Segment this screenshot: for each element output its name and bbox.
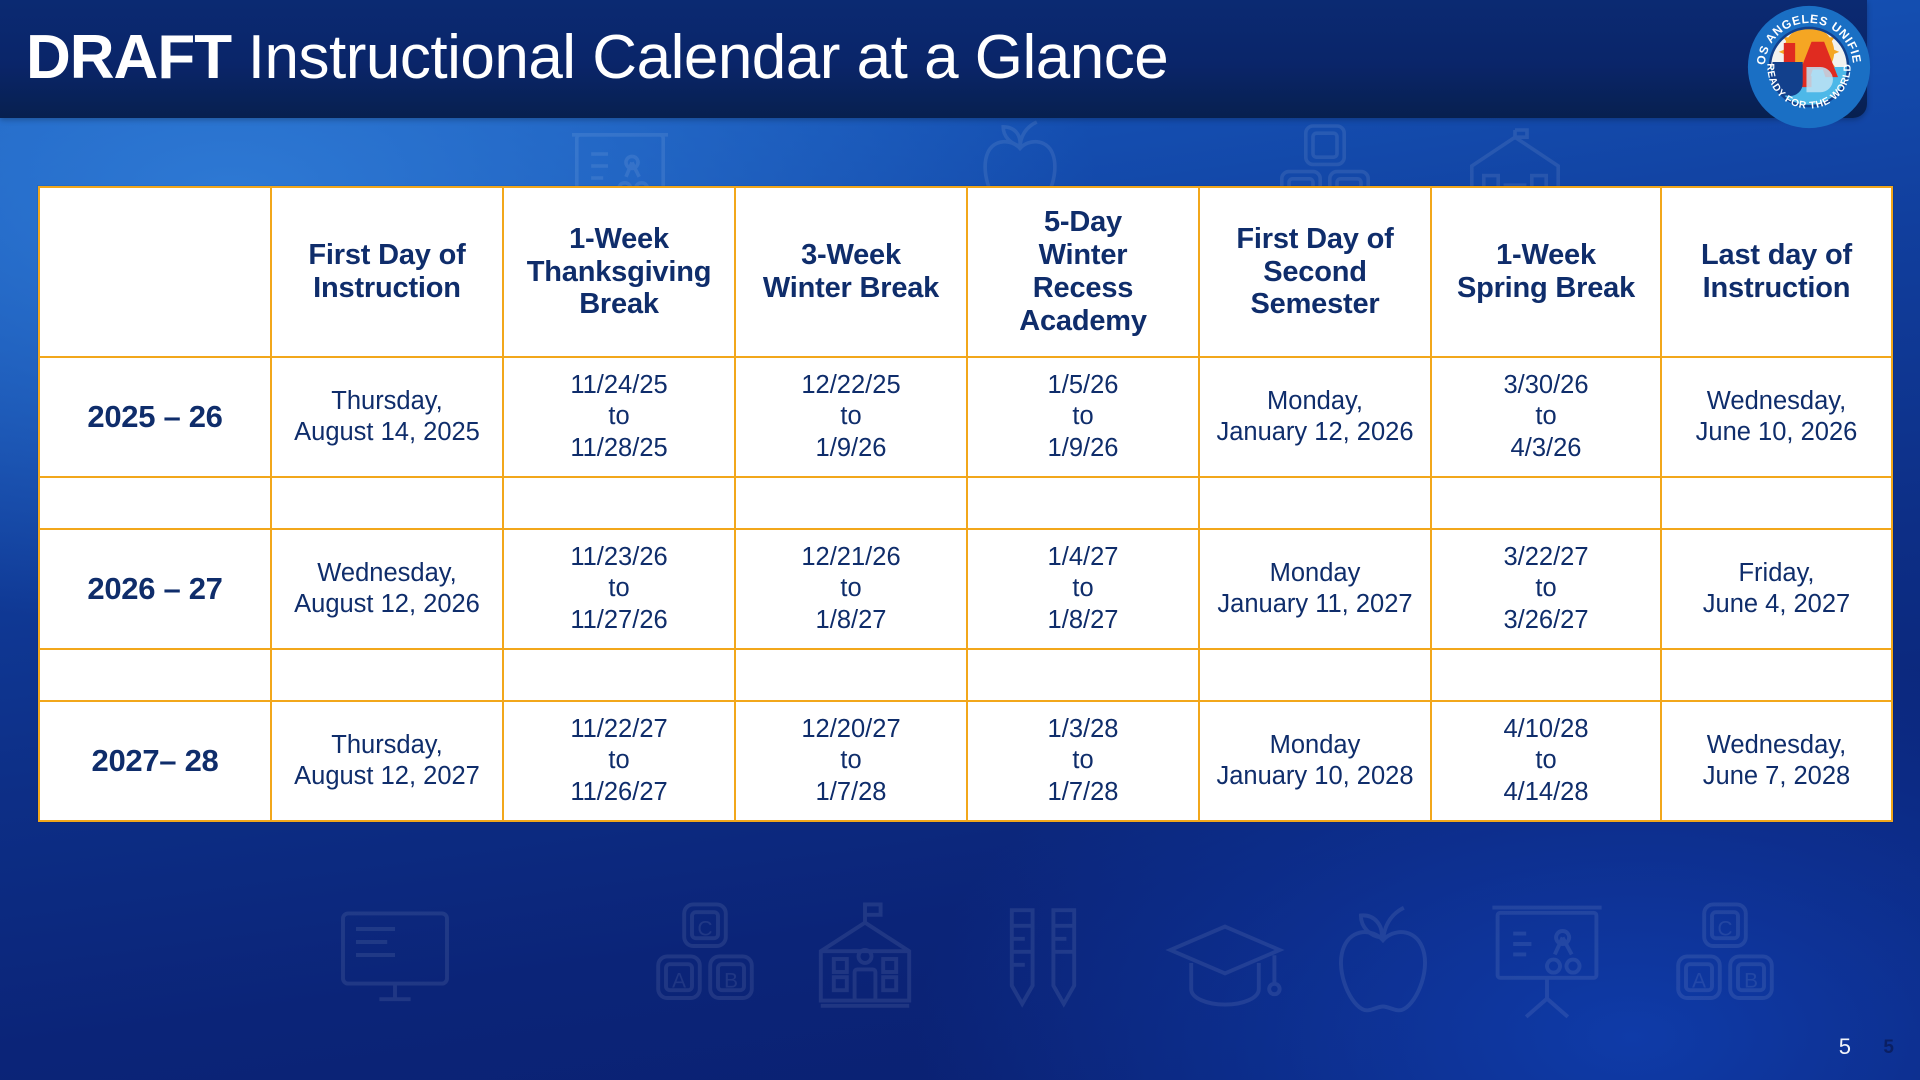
text-line: 12/22/25 — [742, 370, 960, 401]
text-line: 4/14/28 — [1438, 777, 1654, 808]
text-line: to — [510, 745, 728, 776]
cell-last-day-of-instruction: Wednesday,June 10, 2026 — [1661, 357, 1892, 477]
text-line: Monday — [1206, 558, 1424, 589]
spacer-cell — [271, 477, 503, 529]
text-line: 3-Week — [742, 239, 960, 272]
spacer-cell — [503, 477, 735, 529]
cell-thanksgiving-break: 11/24/25to11/28/25 — [503, 357, 735, 477]
text-line: to — [742, 745, 960, 776]
text-line: Thursday, — [278, 730, 496, 761]
text-line: Second — [1206, 256, 1424, 289]
table-body: 2025 – 26 Thursday,August 14, 2025 11/24… — [39, 357, 1892, 821]
text-line: 1/3/28 — [974, 714, 1192, 745]
cell-winter-break: 12/22/25to1/9/26 — [735, 357, 967, 477]
table-header-row: First Day ofInstruction 1-WeekThanksgivi… — [39, 187, 1892, 357]
header-cell-winter-recess-academy: 5-DayWinterRecessAcademy — [967, 187, 1199, 357]
spacer-cell — [967, 477, 1199, 529]
cell-last-day-of-instruction: Wednesday,June 7, 2028 — [1661, 701, 1892, 821]
text-line: to — [742, 401, 960, 432]
cell-winter-recess-academy: 1/3/28to1/7/28 — [967, 701, 1199, 821]
text-line: 4/10/28 — [1438, 714, 1654, 745]
page-title-draft: DRAFT — [26, 23, 231, 92]
text-line: 3/22/27 — [1438, 542, 1654, 573]
text-line: Spring Break — [1438, 272, 1654, 305]
page-number: 5 — [1839, 1034, 1851, 1060]
spacer-cell — [39, 649, 271, 701]
text-line: First Day of — [278, 239, 496, 272]
text-line: 11/23/26 — [510, 542, 728, 573]
spacer-cell — [735, 649, 967, 701]
text-line: 1/4/27 — [974, 542, 1192, 573]
text-line: Thursday, — [278, 386, 496, 417]
text-line: to — [974, 401, 1192, 432]
text-line: 11/22/27 — [510, 714, 728, 745]
text-line: 1/8/27 — [742, 605, 960, 636]
spacer-cell — [1431, 649, 1661, 701]
row-label-year: 2025 – 26 — [39, 357, 271, 477]
svg-text:B: B — [1744, 970, 1758, 993]
cell-spring-break: 3/22/27to3/26/27 — [1431, 529, 1661, 649]
text-line: 4/3/26 — [1438, 433, 1654, 464]
table-row: 2025 – 26 Thursday,August 14, 2025 11/24… — [39, 357, 1892, 477]
text-line: August 12, 2027 — [278, 761, 496, 792]
text-line: to — [1438, 745, 1654, 776]
text-line: 1/8/27 — [974, 605, 1192, 636]
text-line: January 11, 2027 — [1206, 589, 1424, 620]
text-line: Wednesday, — [1668, 730, 1885, 761]
text-line: 12/20/27 — [742, 714, 960, 745]
cell-thanksgiving-break: 11/23/26to11/27/26 — [503, 529, 735, 649]
cell-first-day-of-instruction: Wednesday,August 12, 2026 — [271, 529, 503, 649]
text-line: 1/9/26 — [742, 433, 960, 464]
text-line: August 12, 2026 — [278, 589, 496, 620]
spacer-cell — [503, 649, 735, 701]
presentation-board-icon — [1482, 892, 1612, 1022]
svg-text:A: A — [672, 970, 686, 993]
abc-blocks-icon: C A B — [640, 894, 770, 1024]
text-line: Monday — [1206, 730, 1424, 761]
table-spacer-row — [39, 649, 1892, 701]
table-spacer-row — [39, 477, 1892, 529]
abc-blocks-icon: C A B — [1660, 894, 1790, 1024]
row-label-year: 2026 – 27 — [39, 529, 271, 649]
text-line: 1/9/26 — [974, 433, 1192, 464]
spacer-cell — [271, 649, 503, 701]
text-line: 11/24/25 — [510, 370, 728, 401]
spacer-cell — [735, 477, 967, 529]
slide-canvas: DRAFT Instructional Calendar at a Glance — [0, 0, 1920, 1080]
cell-first-day-of-instruction: Thursday,August 12, 2027 — [271, 701, 503, 821]
text-line: Break — [510, 288, 728, 321]
text-line: Last day of — [1668, 239, 1885, 272]
text-line: 1/7/28 — [974, 777, 1192, 808]
school-building-icon — [800, 894, 930, 1024]
text-line: June 7, 2028 — [1668, 761, 1885, 792]
svg-text:B: B — [724, 970, 738, 993]
svg-text:C: C — [697, 918, 712, 941]
text-line: 1/7/28 — [742, 777, 960, 808]
text-line: January 10, 2028 — [1206, 761, 1424, 792]
cell-first-day-second-semester: Monday,January 12, 2026 — [1199, 357, 1431, 477]
cell-winter-break: 12/20/27to1/7/28 — [735, 701, 967, 821]
header-cell-blank — [39, 187, 271, 357]
page-number-ghost: 5 — [1883, 1037, 1894, 1059]
text-line: June 10, 2026 — [1668, 417, 1885, 448]
table-row: 2027– 28 Thursday,August 12, 2027 11/22/… — [39, 701, 1892, 821]
text-line: Winter — [974, 239, 1192, 272]
text-line: 3/26/27 — [1438, 605, 1654, 636]
text-line: 11/27/26 — [510, 605, 728, 636]
text-line: 1/5/26 — [974, 370, 1192, 401]
svg-text:C: C — [1717, 918, 1732, 941]
text-line: Wednesday, — [278, 558, 496, 589]
cell-winter-break: 12/21/26to1/8/27 — [735, 529, 967, 649]
page-title: DRAFT Instructional Calendar at a Glance — [26, 22, 1168, 93]
text-line: Academy — [974, 305, 1192, 338]
spacer-cell — [1661, 649, 1892, 701]
svg-text:A: A — [1692, 970, 1706, 993]
header-cell-last-day-of-instruction: Last day ofInstruction — [1661, 187, 1892, 357]
text-line: to — [1438, 573, 1654, 604]
text-line: to — [974, 745, 1192, 776]
text-line: First Day of — [1206, 223, 1424, 256]
spacer-cell — [1199, 649, 1431, 701]
cell-first-day-second-semester: MondayJanuary 10, 2028 — [1199, 701, 1431, 821]
spacer-cell — [1431, 477, 1661, 529]
cell-thanksgiving-break: 11/22/27to11/26/27 — [503, 701, 735, 821]
monitor-icon — [330, 890, 460, 1020]
text-line: Winter Break — [742, 272, 960, 305]
cell-spring-break: 3/30/26to4/3/26 — [1431, 357, 1661, 477]
text-line: 11/26/27 — [510, 777, 728, 808]
text-line: 1-Week — [1438, 239, 1654, 272]
header-cell-thanksgiving-break: 1-WeekThanksgivingBreak — [503, 187, 735, 357]
text-line: Recess — [974, 272, 1192, 305]
header-cell-spring-break: 1-WeekSpring Break — [1431, 187, 1661, 357]
pencil-ruler-icon — [978, 892, 1108, 1022]
text-line: Semester — [1206, 288, 1424, 321]
cell-first-day-of-instruction: Thursday,August 14, 2025 — [271, 357, 503, 477]
text-line: Instruction — [1668, 272, 1885, 305]
spacer-cell — [1661, 477, 1892, 529]
watermark-band-bottom: C A B — [0, 880, 1920, 1060]
table-row: 2026 – 27 Wednesday,August 12, 2026 11/2… — [39, 529, 1892, 649]
spacer-cell — [967, 649, 1199, 701]
instructional-calendar-table: First Day ofInstruction 1-WeekThanksgivi… — [38, 186, 1893, 822]
header-cell-winter-break: 3-WeekWinter Break — [735, 187, 967, 357]
header-cell-first-day-of-instruction: First Day ofInstruction — [271, 187, 503, 357]
spacer-cell — [1199, 477, 1431, 529]
text-line: 5-Day — [974, 206, 1192, 239]
apple-icon — [1318, 896, 1448, 1026]
text-line: to — [1438, 401, 1654, 432]
lausd-logo: LOS ANGELES UNIFIED READY FOR THE WORLD — [1746, 4, 1872, 130]
text-line: 1-Week — [510, 223, 728, 256]
text-line: 12/21/26 — [742, 542, 960, 573]
text-line: to — [510, 573, 728, 604]
text-line: January 12, 2026 — [1206, 417, 1424, 448]
text-line: Monday, — [1206, 386, 1424, 417]
header-bar: DRAFT Instructional Calendar at a Glance — [0, 0, 1867, 118]
graduation-cap-icon — [1160, 898, 1290, 1028]
cell-winter-recess-academy: 1/5/26to1/9/26 — [967, 357, 1199, 477]
text-line: Friday, — [1668, 558, 1885, 589]
text-line: 11/28/25 — [510, 433, 728, 464]
text-line: to — [510, 401, 728, 432]
cell-first-day-second-semester: MondayJanuary 11, 2027 — [1199, 529, 1431, 649]
text-line: to — [974, 573, 1192, 604]
text-line: Instruction — [278, 272, 496, 305]
text-line: Thanksgiving — [510, 256, 728, 289]
cell-last-day-of-instruction: Friday,June 4, 2027 — [1661, 529, 1892, 649]
text-line: Wednesday, — [1668, 386, 1885, 417]
cell-spring-break: 4/10/28to4/14/28 — [1431, 701, 1661, 821]
text-line: August 14, 2025 — [278, 417, 496, 448]
text-line: 3/30/26 — [1438, 370, 1654, 401]
row-label-year: 2027– 28 — [39, 701, 271, 821]
spacer-cell — [39, 477, 271, 529]
text-line: to — [742, 573, 960, 604]
header-cell-first-day-second-semester: First Day ofSecondSemester — [1199, 187, 1431, 357]
page-title-rest: Instructional Calendar at a Glance — [231, 23, 1168, 92]
text-line: June 4, 2027 — [1668, 589, 1885, 620]
cell-winter-recess-academy: 1/4/27to1/8/27 — [967, 529, 1199, 649]
